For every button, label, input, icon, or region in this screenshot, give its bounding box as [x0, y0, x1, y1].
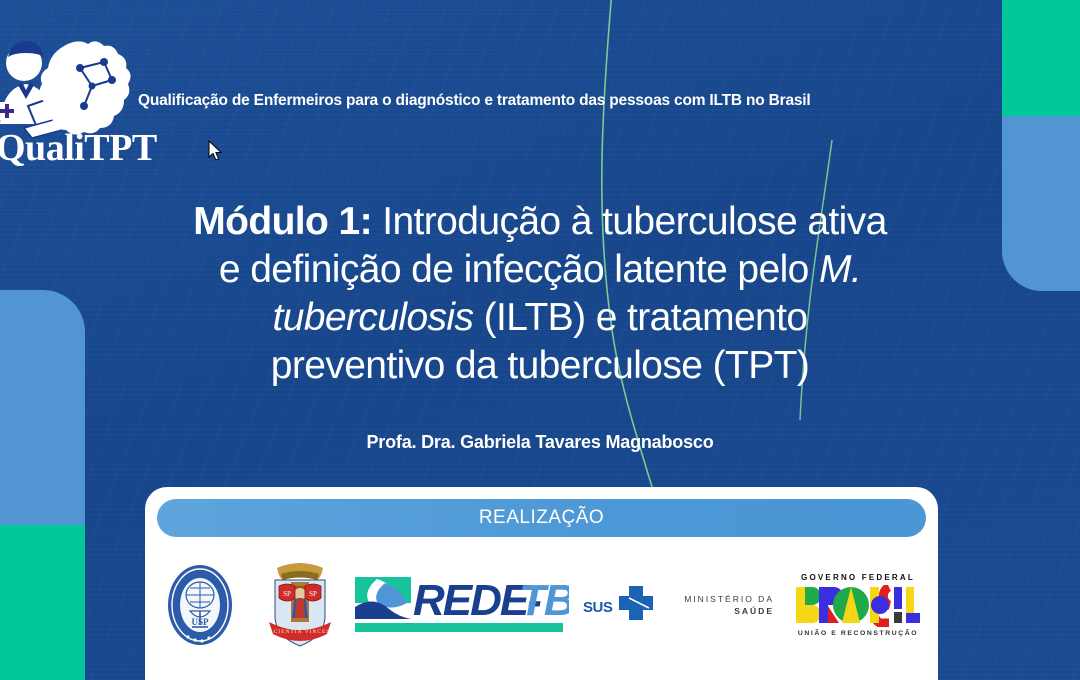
governo-federal-label: GOVERNO FEDERAL — [801, 573, 915, 582]
title-line2: e definição de infecção latente pelo — [219, 248, 819, 291]
decor-block-blue-left — [0, 290, 85, 526]
sponsor-logo-row: USP — [145, 545, 938, 665]
sus-logo: SUS — [575, 582, 665, 628]
module-title-rest: Introdução à tuberculose ativa — [372, 200, 887, 243]
presenter-name: Profa. Dra. Gabriela Tavares Magnabosco — [90, 432, 990, 453]
eerp-usp-seal-icon: USP — [164, 561, 236, 649]
svg-text:SP: SP — [283, 590, 291, 598]
sus-logo-icon: SUS — [581, 582, 659, 628]
decor-block-blue-right — [1002, 116, 1080, 291]
svg-text:TB: TB — [519, 576, 569, 625]
realization-card: REALIZAÇÃO USP — [145, 487, 938, 680]
brand-name: QualiTPT — [0, 126, 166, 170]
title-line2-italic: M. — [819, 248, 861, 291]
governo-federal-brasil-logo: GOVERNO FEDERAL — [783, 573, 933, 637]
presentation-slide: QualiTPT Qualificação de Enfermeiros par… — [0, 0, 1080, 680]
brasil-wordmark-icon — [794, 585, 922, 627]
rede-tb-logo: REDE- TB — [345, 567, 575, 643]
module-label: Módulo 1: — [193, 200, 372, 243]
rede-tb-logo-icon: REDE- TB — [351, 567, 569, 643]
title-line3-rest: (ILTB) e tratamento — [473, 296, 807, 339]
usp-coat-of-arms-icon: SP SP SCIENTIA VINCES — [267, 560, 333, 650]
realization-banner-label: REALIZAÇÃO — [479, 507, 604, 529]
svg-text:USP: USP — [191, 617, 209, 627]
uniao-reconstrucao-label: UNIÃO E RECONSTRUÇÃO — [798, 630, 918, 637]
sus-label: SUS — [583, 599, 613, 616]
svg-text:SP: SP — [309, 590, 317, 598]
ministerio-line2: SAÚDE — [674, 605, 774, 617]
decor-block-teal-left — [0, 525, 85, 680]
realization-banner: REALIZAÇÃO — [157, 499, 926, 537]
usp-coat-of-arms: SP SP SCIENTIA VINCES — [255, 560, 345, 650]
course-header-title: Qualificação de Enfermeiros para o diagn… — [138, 92, 998, 110]
page-title: Módulo 1: Introdução à tuberculose ativa… — [90, 198, 990, 390]
ministerio-line1: MINISTÉRIO DA — [674, 593, 774, 605]
ministerio-da-saude-logo: MINISTÉRIO DA SAÚDE — [665, 593, 783, 617]
title-line4: preventivo da tuberculose (TPT) — [271, 344, 809, 387]
decor-block-teal-right — [1002, 0, 1080, 116]
title-line3-italic: tuberculosis — [273, 296, 474, 339]
svg-text:SCIENTIA VINCES: SCIENTIA VINCES — [270, 629, 331, 635]
eerp-usp-seal: USP — [145, 561, 255, 649]
mouse-pointer-icon — [208, 140, 224, 162]
